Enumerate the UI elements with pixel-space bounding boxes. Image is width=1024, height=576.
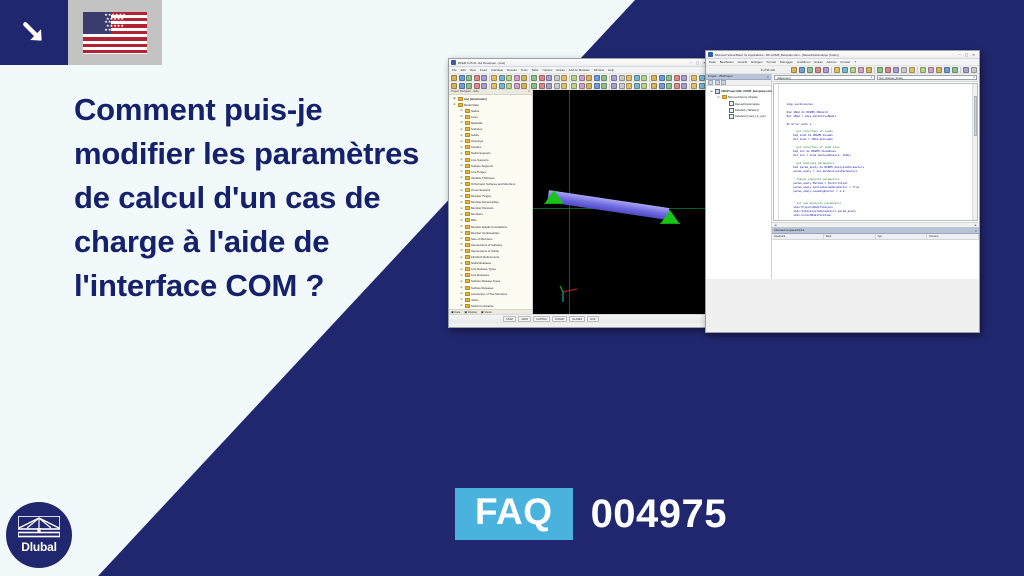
tree-expander-icon[interactable]: ⊞ [460, 189, 463, 192]
rfem-window[interactable]: RFEM 5.25.01 x64 Developer - [test] ─ ▢ … [448, 58, 711, 328]
vba-menu-item-format[interactable]: Format [767, 60, 776, 64]
tree-expander-icon[interactable]: ⊞ [460, 134, 463, 137]
toolbar-button[interactable] [699, 75, 705, 81]
toolbar-button[interactable] [691, 75, 697, 81]
tree-item-label: test [downloads] [464, 97, 487, 101]
toolbar-button[interactable] [641, 83, 647, 89]
folder-yellow-icon [465, 255, 470, 259]
toolbar-button[interactable] [531, 83, 537, 89]
statusbar-toggle-cartes[interactable]: CARTES [533, 316, 550, 322]
folder-yellow-icon [465, 243, 470, 247]
toolbar-button[interactable] [514, 75, 520, 81]
toolbar-button[interactable] [651, 75, 657, 81]
project-navigator[interactable]: Project Navigator - Data ✕ ⊞test [downlo… [449, 90, 533, 314]
tree-expander-icon[interactable]: ⊞ [460, 207, 463, 210]
folder-yellow-icon [465, 286, 470, 290]
tree-expander-icon[interactable]: ⊞ [460, 128, 463, 131]
code-editor[interactable]: iApp.LockLicense Dim iMod As RFEM5.IMode… [773, 83, 978, 221]
toolbar-button[interactable] [963, 67, 969, 73]
slide-canvas: ★★★★★★ ★★★★★ ★★★★★★ ★★★★★ ★★★★★★ Comment… [0, 0, 1024, 576]
close-icon[interactable]: ✕ [972, 53, 975, 57]
tree-expander-icon[interactable]: ⊞ [460, 249, 463, 252]
navigator-tab-views[interactable]: ▣ Views [481, 310, 492, 314]
toolbar-button[interactable] [474, 83, 480, 89]
toolbar-button[interactable] [674, 83, 680, 89]
nodal-support-left-base [544, 203, 564, 204]
toolbar-button[interactable] [546, 75, 552, 81]
folder-yellow-icon [465, 218, 470, 222]
toolbar-button[interactable] [459, 75, 465, 81]
toolbar-button[interactable] [626, 83, 632, 89]
rfem-menu-item-view[interactable]: View [470, 68, 476, 72]
tree-expander-icon[interactable]: ⊞ [460, 158, 463, 161]
nodal-support-right-base [660, 223, 680, 224]
rfem-menu-item-edit[interactable]: Edit [461, 68, 466, 72]
project-explorer-title: Projekt - VBAProject [708, 75, 733, 78]
toolbar-button[interactable] [499, 75, 505, 81]
project-navigator-tree[interactable]: ⊞test [downloads]⊞Model Data⊞Nodes⊞Lines… [449, 95, 532, 309]
watch-window-close-icon[interactable]: ✕ [975, 229, 977, 233]
tree-item-label: Joints [471, 298, 478, 302]
toolbar-button[interactable] [971, 67, 977, 73]
vba-menu-item-debuggen[interactable]: Debuggen [780, 60, 793, 64]
toolbar-button[interactable] [681, 83, 687, 89]
toolbar-button[interactable] [691, 83, 697, 89]
object-combo[interactable]: (Allgemein) ▾ [774, 75, 875, 80]
toolbar-button[interactable] [601, 75, 607, 81]
toolbar-button[interactable] [539, 75, 545, 81]
dlubal-logo: Dlubal [6, 502, 72, 568]
toolbar-button[interactable] [659, 75, 665, 81]
rfem-menu-item-extras[interactable]: Extras [556, 68, 564, 72]
folder-yellow-icon [465, 133, 470, 137]
tree-item-label: Sets of Members [471, 237, 493, 241]
chevron-down-icon[interactable]: ▾ [871, 76, 872, 79]
chevron-down-icon[interactable]: ▾ [973, 76, 974, 79]
statusbar-toggle-glines[interactable]: GLINES [569, 316, 585, 322]
toolbar-button[interactable] [579, 83, 585, 89]
minimize-icon[interactable]: ─ [959, 53, 961, 57]
toolbar-button[interactable] [451, 75, 457, 81]
toolbar-button[interactable] [791, 67, 797, 73]
toolbar-button[interactable] [893, 67, 899, 73]
tree-item-label: FE Mesh Refinements [471, 255, 499, 259]
tree-item-label: Intersections of Solids [471, 249, 499, 253]
folder-yellow-icon [465, 164, 470, 168]
tree-expander-icon[interactable]: ⊞ [460, 140, 463, 143]
scrollbar-thumb[interactable] [974, 96, 977, 136]
statusbar-toggle-dxf[interactable]: DXF [587, 316, 598, 322]
tree-expander-icon[interactable]: ⊞ [460, 201, 463, 204]
project-navigator-title: Project Navigator - Data [451, 90, 479, 93]
folder-yellow-icon [465, 249, 470, 253]
toolbar-button[interactable] [651, 83, 657, 89]
toolbar-button[interactable] [531, 75, 537, 81]
watch-window-columns[interactable]: AusdruckWertTypKontext [772, 234, 979, 240]
toolbar-button[interactable] [481, 83, 487, 89]
code-margin-indicator [778, 84, 779, 220]
tree-item-label: Nodal Constraints [471, 304, 494, 308]
folder-yellow-icon [465, 188, 470, 192]
tree-expander-icon[interactable]: ⊞ [460, 274, 463, 277]
rfem-body: Project Navigator - Data ✕ ⊞test [downlo… [449, 90, 710, 314]
statusbar-toggle-grid[interactable]: GRID [518, 316, 531, 322]
toolbar-button[interactable] [586, 83, 592, 89]
procedure-combo[interactable]: test_change_binary ▾ [877, 75, 978, 80]
tree-expander-icon[interactable]: ⊞ [460, 225, 463, 228]
tree-item-label: Lines [471, 115, 478, 119]
statusbar-toggle-osnap[interactable]: OSNAP [552, 316, 567, 322]
toolbar-button[interactable] [571, 83, 577, 89]
vba-window[interactable]: Microsoft Visual Basic for Applications … [705, 50, 980, 333]
toolbar-separator [569, 75, 570, 81]
toolbar-separator [689, 83, 690, 89]
folder-yellow-icon [465, 109, 470, 113]
vba-menu-item-datei[interactable]: Datei [709, 60, 716, 64]
toolbar-separator [649, 83, 650, 89]
tree-expander-icon[interactable]: ⊞ [460, 237, 463, 240]
toolbar-button[interactable] [901, 67, 907, 73]
tree-expander-icon[interactable]: ⊞ [460, 121, 463, 124]
vba-window-buttons[interactable]: ─ ▢ ✕ [959, 53, 977, 57]
folder-yellow-icon [465, 115, 470, 119]
rfem-titlebar[interactable]: RFEM 5.25.01 x64 Developer - [test] ─ ▢ … [449, 59, 710, 67]
vba-menu-item-fenster[interactable]: Fenster [841, 60, 851, 64]
toolbar-button[interactable] [466, 83, 472, 89]
toolbar-button[interactable] [920, 67, 926, 73]
toolbar-button[interactable] [521, 83, 527, 89]
code-vertical-scrollbar[interactable] [972, 84, 977, 220]
toolbar-button[interactable] [521, 75, 527, 81]
tree-item-label: Orthotropic Surfaces and Members [471, 182, 515, 186]
faq-footer: FAQ 004975 [455, 488, 727, 540]
arrow-down-right-badge [0, 0, 68, 65]
tree-expander-icon[interactable]: ⊞ [453, 103, 456, 106]
project-tree-item[interactable]: Tabelle2 (Load_LC_par) [708, 113, 771, 119]
nodal-support-right[interactable] [661, 210, 679, 223]
toolbar-button[interactable] [681, 75, 687, 81]
toolbar-button[interactable] [626, 75, 632, 81]
coordinate-axes-icon [559, 280, 581, 302]
toolbar-button[interactable] [928, 67, 934, 73]
vba-menu-item-extras[interactable]: Extras [814, 60, 822, 64]
vba-menu-item--[interactable]: ? [854, 60, 856, 64]
folder-yellow-icon [465, 225, 470, 229]
rfem-menu-item-table[interactable]: Table [532, 68, 539, 72]
tree-expander-icon[interactable]: ⊞ [460, 304, 463, 307]
toolbar-separator [874, 67, 875, 73]
vba-toolbar-position: Z 2796.130 [761, 68, 775, 72]
toolbar-button[interactable] [611, 75, 617, 81]
toolbar-separator [609, 75, 610, 81]
beam-member[interactable] [547, 190, 669, 220]
rfem-toolbar-2[interactable] [449, 82, 710, 90]
tree-item-label: Nodes [471, 109, 479, 113]
tree-item-label: Line Hinges [471, 170, 486, 174]
view-code-icon[interactable] [708, 80, 713, 85]
tree-expander-icon[interactable]: ⊞ [460, 182, 463, 185]
project-tree-item-label: Microsoft Excel Objekte [728, 95, 758, 99]
rfem-statusbar[interactable]: SNAPGRIDCARTESOSNAPGLINESDXF [449, 314, 710, 323]
tree-item-label: Nodal Releases [471, 261, 491, 265]
watch-column-typ[interactable]: Typ [876, 234, 928, 239]
maximize-icon[interactable]: ▢ [696, 61, 699, 65]
tree-item-label: Surface Supports [471, 164, 493, 168]
vba-menubar[interactable]: DateiBearbeitenAnsichtEinfügenFormatDebu… [706, 59, 979, 66]
rfem-menu-item-add-on-modules[interactable]: Add-on Modules [569, 68, 590, 72]
rfem-menu-item-help[interactable]: Help [608, 68, 614, 72]
toolbar-button[interactable] [491, 83, 497, 89]
toolbar-button[interactable] [554, 83, 560, 89]
dlubal-logo-text: Dlubal [21, 540, 56, 554]
vba-menu-item-bearbeiten[interactable]: Bearbeiten [720, 60, 734, 64]
tree-item-label: Surfaces [471, 127, 482, 131]
rfem-menu-item-window[interactable]: Window [594, 68, 604, 72]
folder-yellow-icon [465, 298, 470, 302]
rfem-menubar[interactable]: FileEditViewInsertCalculateResultsToolsT… [449, 67, 710, 74]
toolbar-button[interactable] [619, 83, 625, 89]
tree-expander-icon[interactable]: ⊞ [460, 219, 463, 222]
toolbar-button[interactable] [834, 67, 840, 73]
minimize-icon[interactable]: ─ [690, 61, 692, 65]
watch-column-wert[interactable]: Wert [824, 234, 876, 239]
toolbar-separator [649, 75, 650, 81]
rfem-toolbar-1[interactable] [449, 74, 710, 82]
folder-yellow-icon [465, 200, 470, 204]
tree-item-label: Line Supports [471, 158, 489, 162]
rfem-menu-item-results[interactable]: Results [507, 68, 517, 72]
maximize-icon[interactable]: ▢ [965, 53, 968, 57]
tree-item-label: Openings [471, 139, 483, 143]
tree-item-label: Nodal Supports [471, 151, 491, 155]
toolbar-separator [489, 83, 490, 89]
project-explorer[interactable]: Projekt - VBAProject ✕ ⊟VBAProject (RF-C… [706, 74, 772, 279]
folder-yellow-icon [465, 212, 470, 216]
tree-item-label: Intersections of Surfaces [471, 243, 502, 247]
toolbar-button[interactable] [594, 83, 600, 89]
vba-titlebar[interactable]: Microsoft Visual Basic for Applications … [706, 51, 979, 59]
tree-expander-icon[interactable]: ⊞ [460, 292, 463, 295]
tree-expander-icon[interactable]: ⊞ [460, 115, 463, 118]
watch-window-title: Überwachungsausdrücke [774, 229, 804, 232]
tree-expander-icon[interactable]: ⊞ [460, 280, 463, 283]
excel-module-icon [729, 101, 734, 106]
vba-toolbar[interactable]: Z 2796.130 [706, 66, 979, 74]
tree-item-label: Member Divisions [471, 206, 494, 210]
view-object-icon[interactable] [715, 80, 720, 85]
tree-expander-icon[interactable]: ⊞ [460, 243, 463, 246]
statusbar-toggle-snap[interactable]: SNAP [503, 316, 516, 322]
toolbar-button[interactable] [952, 67, 958, 73]
toolbar-button[interactable] [666, 83, 672, 89]
toolbar-button[interactable] [491, 75, 497, 81]
watch-column-ausdruck[interactable]: Ausdruck [772, 234, 824, 239]
navigator-close-icon[interactable]: ✕ [528, 90, 530, 93]
code-combo-row[interactable]: (Allgemein) ▾ test_change_binary ▾ [772, 74, 979, 82]
folder-yellow-icon [465, 182, 470, 186]
toolbar-button[interactable] [634, 75, 640, 81]
tree-item-label: Cross-Sections [471, 188, 490, 192]
toolbar-button[interactable] [571, 75, 577, 81]
toolbar-button[interactable] [586, 75, 592, 81]
project-explorer-close-icon[interactable]: ✕ [767, 75, 769, 79]
tree-item-label: Model Data [464, 103, 479, 107]
toolbar-button[interactable] [850, 67, 856, 73]
screenshot-group: RFEM 5.25.01 x64 Developer - [test] ─ ▢ … [448, 50, 980, 335]
tree-expander-icon[interactable]: ⊞ [460, 298, 463, 301]
rfem-app-icon [451, 60, 456, 65]
toolbar-button[interactable] [514, 83, 520, 89]
tree-expander-icon[interactable]: ⊞ [460, 262, 463, 265]
toolbar-button[interactable] [466, 75, 472, 81]
vba-menu-item-ansicht[interactable]: Ansicht [738, 60, 747, 64]
tree-expander-icon[interactable]: ⊞ [460, 213, 463, 216]
tree-expander-icon[interactable]: ⊞ [460, 152, 463, 155]
project-tree-item-label: Tabelle1 (Tabelle1) [735, 108, 759, 112]
toolbar-button[interactable] [579, 75, 585, 81]
rfem-menu-item-insert[interactable]: Insert [480, 68, 487, 72]
toolbar-button[interactable] [459, 83, 465, 89]
folder-yellow-icon [465, 145, 470, 149]
flag-container: ★★★★★★ ★★★★★ ★★★★★★ ★★★★★ ★★★★★★ [68, 0, 162, 65]
model-viewport-3d[interactable] [533, 90, 710, 314]
tree-expander-icon[interactable]: ⊞ [460, 286, 463, 289]
toolbar-separator [569, 83, 570, 89]
tree-item-label: Member Eccentricities [471, 200, 499, 204]
rfem-menu-item-options[interactable]: Options [542, 68, 552, 72]
folder-yellow-icon [465, 261, 470, 265]
toolbar-button[interactable] [858, 67, 864, 73]
tree-expander-icon[interactable]: ⊟ [710, 90, 713, 93]
toggle-folders-icon[interactable] [721, 80, 726, 85]
toolbar-button[interactable] [909, 67, 915, 73]
toolbar-button[interactable] [666, 75, 672, 81]
toolbar-button[interactable] [699, 83, 705, 89]
vba-app-icon [708, 52, 713, 57]
folder-yellow-icon [465, 127, 470, 131]
toolbar-button[interactable] [842, 67, 848, 73]
folder-yellow-icon [465, 158, 470, 162]
tree-expander-icon[interactable]: ⊞ [460, 109, 463, 112]
toolbar-button[interactable] [506, 83, 512, 89]
folder-yellow-icon [465, 176, 470, 180]
toolbar-button[interactable] [866, 67, 872, 73]
toolbar-button[interactable] [815, 67, 821, 73]
toolbar-button[interactable] [641, 75, 647, 81]
object-combo-value: (Allgemein) [777, 76, 791, 80]
page-title: Comment puis-je modifier les paramètres … [74, 88, 434, 308]
toolbar-button[interactable] [619, 75, 625, 81]
toolbar-button[interactable] [936, 67, 942, 73]
toolbar-button[interactable] [944, 67, 950, 73]
rfem-menu-item-file[interactable]: File [452, 68, 457, 72]
rfem-menu-item-tools[interactable]: Tools [521, 68, 528, 72]
tree-expander-icon[interactable]: ⊞ [453, 97, 456, 100]
navigator-tab-data[interactable]: ▣ Data [451, 310, 460, 314]
navigator-tabs[interactable]: ▣ Data▣ Display▣ Views [449, 309, 532, 314]
toolbar-separator [529, 83, 530, 89]
rfem-menu-item-calculate[interactable]: Calculate [491, 68, 503, 72]
project-explorer-tree[interactable]: ⊟VBAProject (RF-COM5_Beispiele.xlsm)⊟Mic… [706, 86, 771, 119]
procedure-combo-value: test_change_binary [879, 76, 903, 80]
folder-yellow-icon [465, 139, 470, 143]
toolbar-button[interactable] [674, 75, 680, 81]
navigator-tab-display[interactable]: ▣ Display [464, 310, 477, 314]
tree-expander-icon[interactable]: ⊟ [717, 96, 720, 99]
toolbar-button[interactable] [546, 83, 552, 89]
project-tree-item-label: Tabelle2 (Load_LC_par) [735, 114, 766, 118]
tree-item-label: Solids [471, 133, 479, 137]
folder-yellow-icon [465, 279, 470, 283]
toolbar-button[interactable] [554, 75, 560, 81]
toolbar-button[interactable] [499, 83, 505, 89]
tree-expander-icon[interactable]: ⊞ [460, 146, 463, 149]
nodal-support-left[interactable] [545, 190, 563, 203]
toolbar-button[interactable] [799, 67, 805, 73]
toolbar-button[interactable] [885, 67, 891, 73]
toolbar-button[interactable] [561, 83, 567, 89]
tree-item-label: Members [471, 212, 483, 216]
tree-item-label: Ribs [471, 218, 477, 222]
toolbar-separator [831, 67, 832, 73]
tree-expander-icon[interactable]: ⊞ [460, 164, 463, 167]
folder-yellow-icon [465, 121, 470, 125]
tree-expander-icon[interactable]: ⊞ [460, 256, 463, 259]
arrow-down-right-icon [21, 20, 47, 46]
toolbar-button[interactable] [807, 67, 813, 73]
rfem-title-text: RFEM 5.25.01 x64 Developer - [test] [458, 61, 688, 65]
vba-menu-item-add-ins[interactable]: Add-Ins [827, 60, 837, 64]
toolbar-button[interactable] [539, 83, 545, 89]
tree-expander-icon[interactable]: ⊞ [460, 268, 463, 271]
toolbar-separator [609, 83, 610, 89]
tree-expander-icon[interactable]: ⊞ [460, 176, 463, 179]
folder-yellow-icon [465, 304, 470, 308]
folder-yellow-icon [465, 151, 470, 155]
vba-title-text: Microsoft Visual Basic for Applications … [715, 53, 957, 57]
toolbar-button[interactable] [451, 83, 457, 89]
toolbar-button[interactable] [659, 83, 665, 89]
toolbar-separator [917, 67, 918, 73]
toolbar-button[interactable] [601, 83, 607, 89]
code-panel: (Allgemein) ▾ test_change_binary ▾ [772, 74, 979, 279]
toolbar-button[interactable] [561, 75, 567, 81]
toolbar-button[interactable] [877, 67, 883, 73]
project-tree-item-label: DieseArbeitsmappe [735, 102, 760, 106]
toolbar-button[interactable] [823, 67, 829, 73]
watch-window[interactable]: Überwachungsausdrücke ✕ AusdruckWertTypK… [772, 227, 979, 279]
folder-yellow-icon [458, 103, 463, 107]
tree-item-label: Line Release Types [471, 267, 496, 271]
truss-frame-icon [18, 516, 60, 538]
tree-expander-icon[interactable]: ⊞ [460, 231, 463, 234]
watch-column-kontext[interactable]: Kontext [927, 234, 979, 239]
toolbar-button[interactable] [506, 75, 512, 81]
toolbar-button[interactable] [474, 75, 480, 81]
vba-menu-item-einf-gen[interactable]: Einfügen [751, 60, 762, 64]
flag-usa-icon: ★★★★★★ ★★★★★ ★★★★★★ ★★★★★ ★★★★★★ [83, 12, 147, 54]
tree-expander-icon[interactable]: ⊞ [460, 195, 463, 198]
toolbar-button[interactable] [594, 75, 600, 81]
toolbar-button[interactable] [634, 83, 640, 89]
toolbar-button[interactable] [611, 83, 617, 89]
vba-menu-item-ausf-hren[interactable]: Ausführen [797, 60, 810, 64]
toolbar-button[interactable] [481, 75, 487, 81]
vba-project-icon [715, 89, 720, 94]
folder-yellow-icon [465, 231, 470, 235]
tree-expander-icon[interactable]: ⊞ [460, 170, 463, 173]
tree-item-label: Variable Thickness [471, 176, 495, 180]
